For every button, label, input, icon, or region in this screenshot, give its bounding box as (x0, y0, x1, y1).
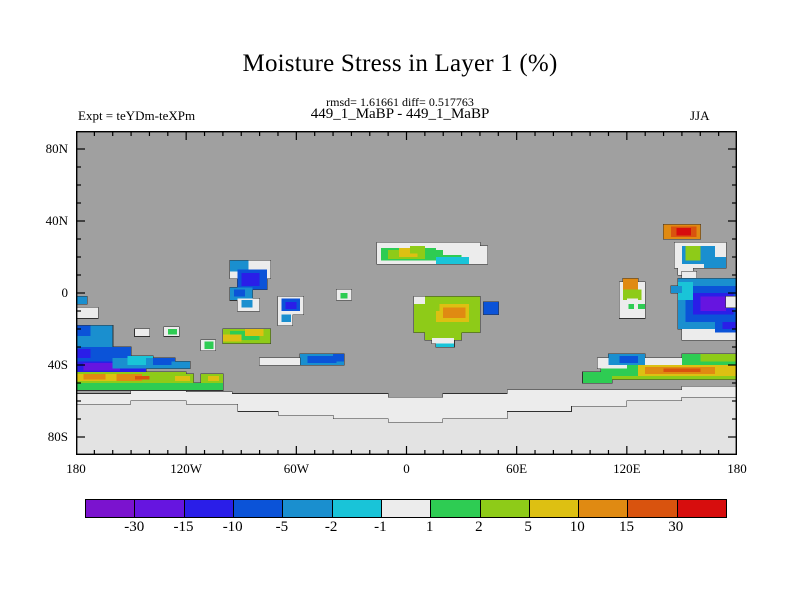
anomaly-cell (432, 338, 454, 343)
anomaly-cell (443, 394, 507, 419)
x-axis-label-120E: 120E (597, 461, 657, 477)
x-axis-label-180: 180 (707, 461, 767, 477)
anomaly-cell (726, 297, 737, 308)
map-layers (76, 131, 737, 455)
anomaly-cell (91, 347, 131, 358)
anomaly-cell (186, 392, 232, 405)
colorbar-label--1: -1 (357, 519, 403, 536)
colorbar-label--15: -15 (160, 519, 206, 536)
colorbar-tick-labels: -30-15-10-5-2-1125101530 (85, 519, 725, 541)
australia-neutral-pocket (726, 297, 737, 308)
anomaly-cell (388, 397, 443, 422)
anomaly-cell (333, 419, 388, 455)
anomaly-cell (686, 246, 701, 260)
page-title: Moisture Stress in Layer 1 (%) (0, 50, 800, 78)
colorbar-label-10: 10 (554, 519, 600, 536)
colorbar-band-12[interactable] (677, 500, 726, 517)
anomaly-cell (245, 329, 263, 336)
season-label: JJA (690, 108, 710, 124)
colorbar[interactable] (85, 499, 727, 518)
map-canvas (76, 131, 737, 455)
anomaly-cell (135, 376, 150, 380)
experiment-label: Expt = teYDm-teXPm (78, 108, 195, 124)
colorbar-label--2: -2 (308, 519, 354, 536)
anomaly-cell (671, 286, 682, 293)
anomaly-cell (664, 369, 701, 373)
south-atlantic-negative-band (300, 354, 344, 365)
anomaly-cell (234, 289, 245, 296)
colorbar-label-15: 15 (604, 519, 650, 536)
colorbar-band-7[interactable] (430, 500, 479, 517)
anomaly-cell (443, 248, 461, 255)
anomaly-cell (282, 315, 291, 322)
y-axis-label-40N: 40N (26, 213, 68, 229)
map-plot-area: 80N40N040S80S 180120W60W060E120E180 (76, 131, 737, 455)
colorbar-band-0[interactable] (86, 500, 134, 517)
anomaly-cell (572, 390, 627, 406)
anomaly-cell (76, 405, 131, 455)
y-axis-label-80N: 80N (26, 141, 68, 157)
anomaly-cell (241, 300, 252, 307)
colorbar-band-11[interactable] (627, 500, 676, 517)
anomaly-cell (484, 302, 499, 315)
colorbar-band-2[interactable] (184, 500, 233, 517)
north-africa-positive (377, 243, 487, 265)
indian-ocean-negative-cell (484, 302, 499, 315)
central-asia-positive (664, 225, 701, 239)
anomaly-cell (700, 354, 737, 361)
x-axis-label-60E: 60E (487, 461, 547, 477)
anomaly-cell (645, 358, 682, 365)
anomaly-cell (175, 376, 190, 381)
anomaly-cell (443, 419, 507, 455)
anomaly-cell (232, 394, 278, 412)
colorbar-label--10: -10 (210, 519, 256, 536)
figure-canvas: Moisture Stress in Layer 1 (%) rmsd= 1.6… (0, 0, 800, 600)
anomaly-cell (285, 302, 296, 309)
anomaly-cell (572, 406, 627, 455)
southwest-edge-cell (76, 297, 87, 304)
anomaly-cell (76, 325, 91, 336)
anomaly-cell (205, 342, 214, 349)
anomaly-cell (443, 307, 465, 318)
anomaly-cell (682, 397, 737, 455)
anomaly-cell (340, 293, 347, 298)
anomaly-cell (629, 304, 635, 309)
anomaly-cell (682, 387, 737, 398)
anomaly-cell (627, 401, 682, 455)
y-axis-label-40S: 40S (26, 357, 68, 373)
anomaly-cell (638, 304, 645, 309)
anomaly-cell (76, 383, 223, 390)
colorbar-band-1[interactable] (134, 500, 183, 517)
x-axis-label-180: 180 (46, 461, 106, 477)
south-pacific-small-cell-c (201, 340, 216, 351)
colorbar-label--30: -30 (111, 519, 157, 536)
east-asia-positive-strip (619, 279, 645, 319)
south-america-green-streak (223, 329, 271, 343)
anomaly-cell (76, 307, 98, 318)
anomaly-cell (704, 257, 726, 268)
anomaly-cell (507, 390, 571, 412)
colorbar-label--5: -5 (259, 519, 305, 536)
anomaly-cell (436, 343, 454, 347)
anomaly-cell (619, 356, 637, 363)
anomaly-cell (583, 372, 612, 383)
colorbar-label-5: 5 (505, 519, 551, 536)
anomaly-cell (131, 390, 186, 401)
colorbar-band-3[interactable] (233, 500, 282, 517)
colorbar-band-4[interactable] (282, 500, 331, 517)
anomaly-cell (676, 228, 691, 235)
northwest-pacific-small-cell (682, 271, 697, 278)
southern-ocean-east-positive (583, 354, 737, 383)
anomaly-cell (83, 374, 105, 379)
colorbar-band-5[interactable] (332, 500, 381, 517)
y-axis-label-0: 0 (26, 285, 68, 301)
colorbar-label-1: 1 (407, 519, 453, 536)
anomaly-cell (260, 358, 300, 365)
south-pacific-small-cell-b (164, 327, 179, 336)
anomaly-cell (76, 297, 87, 304)
anomaly-cell (238, 412, 278, 455)
colorbar-band-6[interactable] (381, 500, 430, 517)
anomaly-cell (131, 401, 186, 455)
anomaly-cell (223, 334, 241, 341)
colorbar-band-9[interactable] (529, 500, 578, 517)
x-axis-label-0: 0 (377, 461, 437, 477)
colorbar-label-2: 2 (456, 519, 502, 536)
anomaly-cell (171, 361, 189, 368)
x-axis-label-60W: 60W (266, 461, 326, 477)
y-axis-label-80S: 80S (26, 429, 68, 445)
anomaly-cell (414, 297, 425, 304)
anomaly-cell (388, 423, 443, 455)
anomaly-cell (278, 394, 333, 416)
south-atlantic-neutral-bar (260, 358, 300, 365)
anomaly-cell (333, 394, 388, 419)
anomaly-cell (168, 329, 177, 334)
anomaly-cell (208, 376, 219, 381)
colorbar-band-10[interactable] (578, 500, 627, 517)
anomaly-cell (682, 271, 697, 278)
anomaly-cell (436, 257, 469, 264)
anomaly-cell (307, 356, 336, 363)
colorbar-label-30: 30 (653, 519, 699, 536)
anomaly-cell (186, 405, 237, 455)
atlantic-small-cell (337, 289, 352, 300)
anomaly-cell (135, 329, 150, 336)
x-axis-label-120W: 120W (156, 461, 216, 477)
anomaly-cell (410, 246, 425, 253)
south-pacific-small-cell-a (135, 329, 150, 336)
anomaly-cell (333, 354, 344, 361)
anomaly-cell (76, 394, 131, 405)
anomaly-cell (241, 273, 259, 286)
anomaly-cell (627, 390, 682, 401)
anomaly-cell (278, 415, 333, 455)
colorbar-band-8[interactable] (480, 500, 529, 517)
anomaly-cell (700, 297, 726, 311)
anomaly-cell (722, 322, 737, 329)
